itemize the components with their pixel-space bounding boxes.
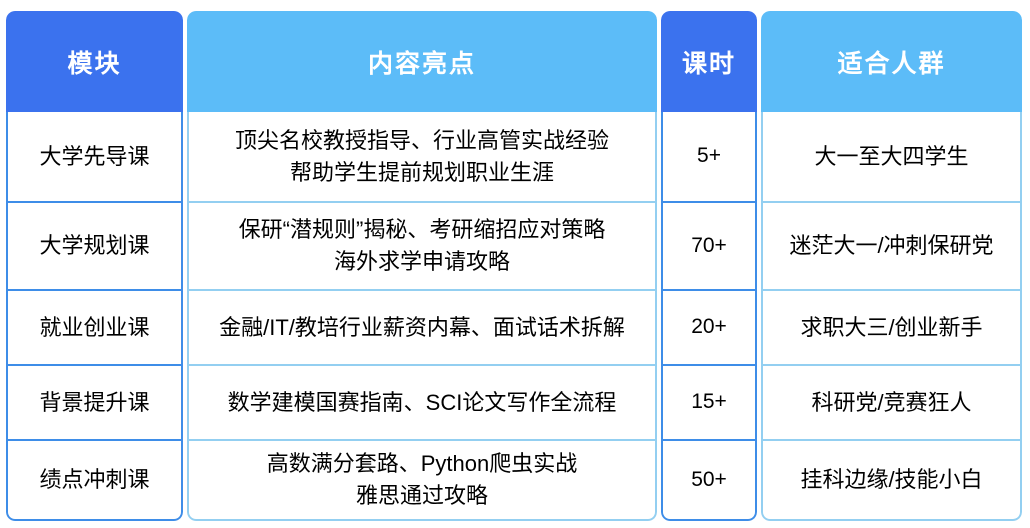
table-cell-audience-4: 科研党/竞赛狂人 [763,366,1020,441]
table-cell-hours-3: 20+ [663,291,755,366]
table-cell-audience-2: 迷茫大一/冲刺保研党 [763,203,1020,291]
course-modules-table: 模块 大学先导课 大学规划课 就业创业课 背景提升课 绩点冲刺课 内容亮点 顶尖… [6,11,1022,521]
table-cell-content-5: 高数满分套路、Python爬虫实战 雅思通过攻略 [189,441,655,519]
column-header-audience: 适合人群 [761,11,1022,112]
table-cell-content-3: 金融/IT/教培行业薪资内幕、面试话术拆解 [189,291,655,366]
column-body-audience: 大一至大四学生 迷茫大一/冲刺保研党 求职大三/创业新手 科研党/竞赛狂人 挂科… [761,112,1022,521]
column-body-module: 大学先导课 大学规划课 就业创业课 背景提升课 绩点冲刺课 [6,112,183,521]
column-body-content-highlights: 顶尖名校教授指导、行业高管实战经验 帮助学生提前规划职业生涯 保研“潜规则”揭秘… [187,112,657,521]
table-cell-module-1: 大学先导课 [8,112,181,203]
content-line-1: 高数满分套路、Python爬虫实战 [267,448,578,480]
column-audience: 适合人群 大一至大四学生 迷茫大一/冲刺保研党 求职大三/创业新手 科研党/竞赛… [761,11,1022,521]
content-line-2: 帮助学生提前规划职业生涯 [235,157,609,189]
table-cell-hours-4: 15+ [663,366,755,441]
content-line-1: 金融/IT/教培行业薪资内幕、面试话术拆解 [219,312,625,344]
table-cell-audience-5: 挂科边缘/技能小白 [763,441,1020,519]
column-header-hours: 课时 [661,11,757,112]
content-line-2: 雅思通过攻略 [267,480,578,512]
table-cell-module-3: 就业创业课 [8,291,181,366]
table-cell-audience-1: 大一至大四学生 [763,112,1020,203]
table-cell-audience-3: 求职大三/创业新手 [763,291,1020,366]
table-cell-content-2: 保研“潜规则”揭秘、考研缩招应对策略 海外求学申请攻略 [189,203,655,291]
table-cell-hours-1: 5+ [663,112,755,203]
table-cell-content-1: 顶尖名校教授指导、行业高管实战经验 帮助学生提前规划职业生涯 [189,112,655,203]
content-line-1: 数学建模国赛指南、SCI论文写作全流程 [228,387,617,419]
table-cell-module-2: 大学规划课 [8,203,181,291]
table-cell-hours-5: 50+ [663,441,755,519]
table-cell-module-4: 背景提升课 [8,366,181,441]
content-line-1: 保研“潜规则”揭秘、考研缩招应对策略 [239,214,606,246]
column-module: 模块 大学先导课 大学规划课 就业创业课 背景提升课 绩点冲刺课 [6,11,183,521]
column-hours: 课时 5+ 70+ 20+ 15+ 50+ [661,11,757,521]
content-line-2: 海外求学申请攻略 [239,246,606,278]
column-content-highlights: 内容亮点 顶尖名校教授指导、行业高管实战经验 帮助学生提前规划职业生涯 保研“潜… [187,11,657,521]
column-header-module: 模块 [6,11,183,112]
content-line-1: 顶尖名校教授指导、行业高管实战经验 [235,125,609,157]
table-cell-module-5: 绩点冲刺课 [8,441,181,519]
table-cell-hours-2: 70+ [663,203,755,291]
column-body-hours: 5+ 70+ 20+ 15+ 50+ [661,112,757,521]
column-header-content-highlights: 内容亮点 [187,11,657,112]
table-cell-content-4: 数学建模国赛指南、SCI论文写作全流程 [189,366,655,441]
